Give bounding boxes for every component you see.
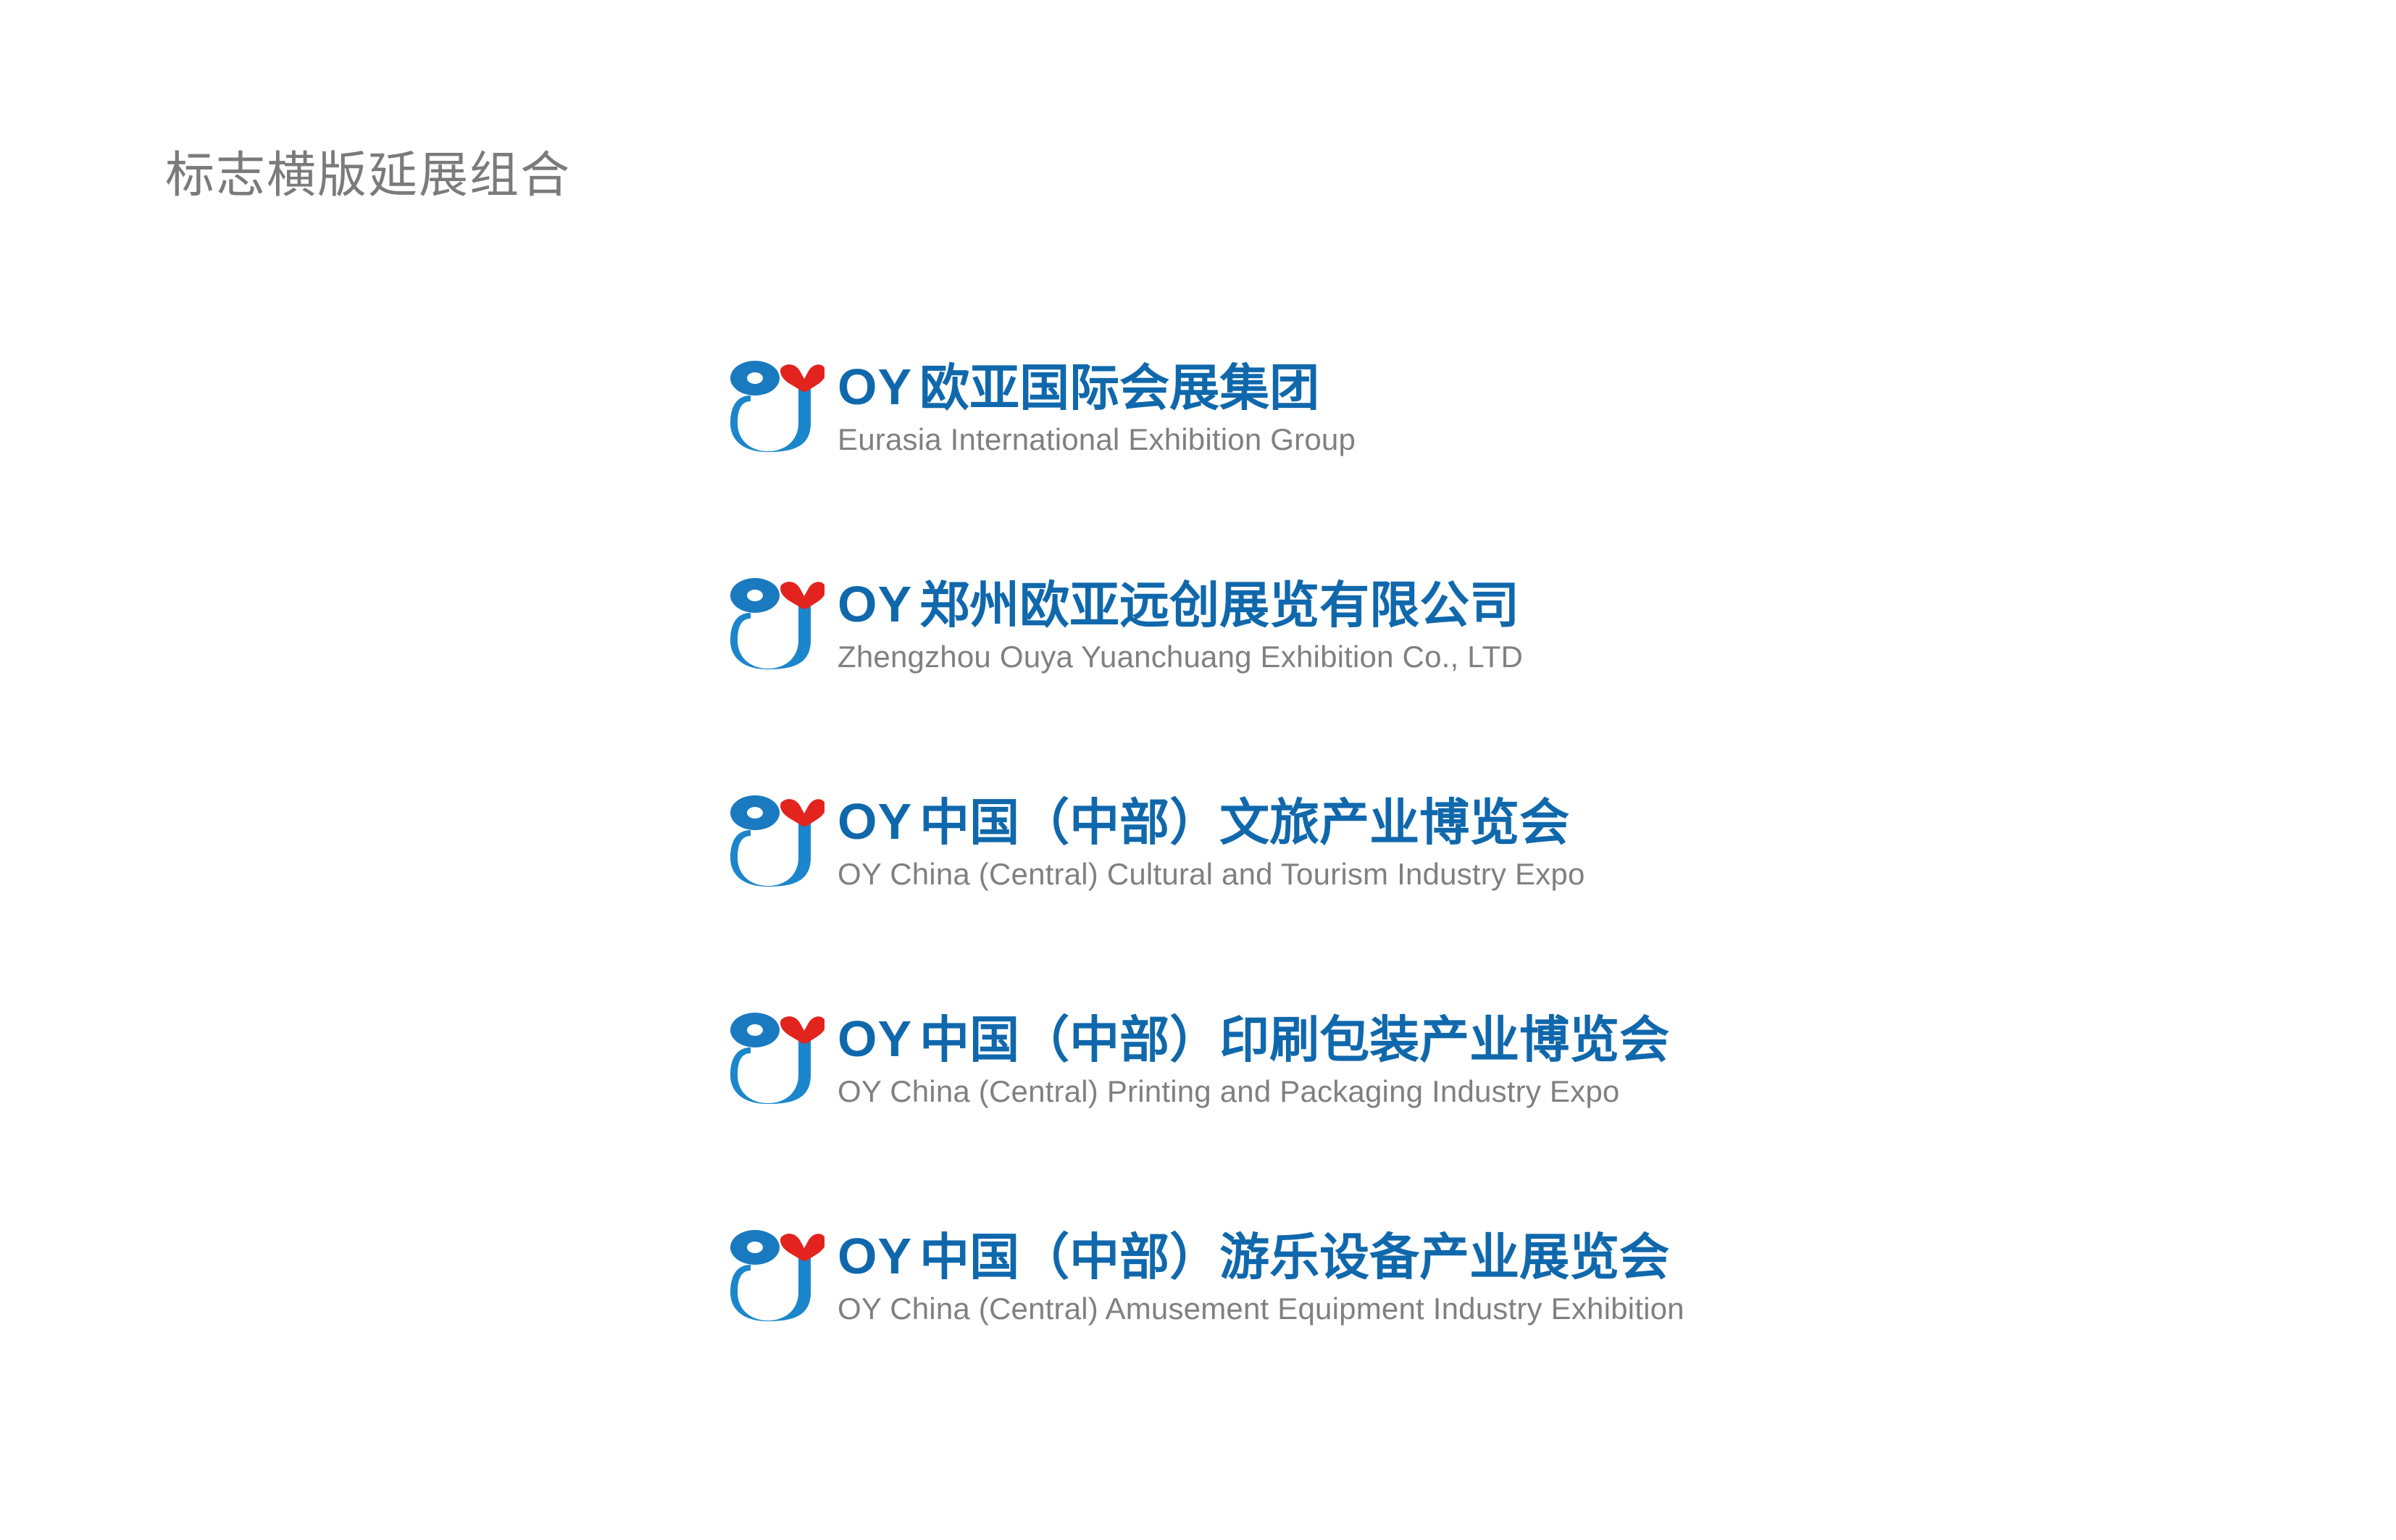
lockup-text: OY 欧亚国际会展集团 Eurasia International Exhibi… xyxy=(838,358,1356,455)
oy-wordmark: OY xyxy=(838,579,912,629)
logo-lockup-zhengzhou-ouya-yuanchuang: OY 郑州欧亚远创展览有限公司 Zhengzhou Ouya Yuanchuan… xyxy=(730,575,1685,792)
lockup-primary-line: OY 中国（中部）印刷包装产业博览会 xyxy=(838,1014,1669,1065)
lockup-primary-line: OY 欧亚国际会展集团 xyxy=(838,362,1356,413)
logo-lockup-amusement-equipment-industry-exhibition: OY 中国（中部）游乐设备产业展览会 OY China (Central) Am… xyxy=(730,1227,1685,1324)
lockup-chinese-name: 欧亚国际会展集团 xyxy=(919,363,1319,413)
lockup-english-name: OY China (Central) Amusement Equipment I… xyxy=(838,1294,1685,1324)
oy-wordmark: OY xyxy=(838,1231,912,1281)
oy-eurasia-symbol-icon xyxy=(730,794,825,887)
lockup-text: OY 郑州欧亚远创展览有限公司 Zhengzhou Ouya Yuanchuan… xyxy=(838,575,1523,672)
logo-lockup-printing-packaging-industry-expo: OY 中国（中部）印刷包装产业博览会 OY China (Central) Pr… xyxy=(730,1010,1685,1227)
oy-eurasia-symbol-icon xyxy=(730,1011,825,1104)
lockup-chinese-name: 中国（中部）印刷包装产业博览会 xyxy=(919,1015,1669,1065)
logo-lockup-list: OY 欧亚国际会展集团 Eurasia International Exhibi… xyxy=(730,358,1685,1324)
logo-lockup-eurasia-international-exhibition-group: OY 欧亚国际会展集团 Eurasia International Exhibi… xyxy=(730,358,1685,575)
oy-wordmark: OY xyxy=(838,361,912,412)
oy-wordmark: OY xyxy=(838,1013,912,1064)
lockup-english-name: OY China (Central) Printing and Packagin… xyxy=(838,1076,1669,1107)
oy-wordmark: OY xyxy=(838,796,912,847)
lockup-primary-line: OY 中国（中部）文旅产业博览会 xyxy=(838,797,1585,848)
lockup-text: OY 中国（中部）游乐设备产业展览会 OY China (Central) Am… xyxy=(838,1227,1685,1324)
page-title: 标志横版延展组合 xyxy=(165,151,571,200)
oy-eurasia-symbol-icon xyxy=(730,1229,825,1321)
lockup-chinese-name: 郑州欧亚远创展览有限公司 xyxy=(919,580,1519,630)
lockup-english-name: Eurasia International Exhibition Group xyxy=(838,424,1356,455)
logo-lockup-cultural-tourism-industry-expo: OY 中国（中部）文旅产业博览会 OY China (Central) Cult… xyxy=(730,792,1685,1010)
lockup-english-name: Zhengzhou Ouya Yuanchuang Exhibition Co.… xyxy=(838,642,1523,672)
lockup-text: OY 中国（中部）文旅产业博览会 OY China (Central) Cult… xyxy=(838,792,1585,890)
oy-eurasia-symbol-icon xyxy=(730,359,825,452)
oy-eurasia-symbol-icon xyxy=(730,577,825,669)
lockup-chinese-name: 中国（中部）游乐设备产业展览会 xyxy=(919,1232,1669,1282)
lockup-chinese-name: 中国（中部）文旅产业博览会 xyxy=(919,798,1569,848)
lockup-primary-line: OY 郑州欧亚远创展览有限公司 xyxy=(838,579,1523,630)
lockup-primary-line: OY 中国（中部）游乐设备产业展览会 xyxy=(838,1231,1685,1282)
lockup-english-name: OY China (Central) Cultural and Tourism … xyxy=(838,859,1585,890)
lockup-text: OY 中国（中部）印刷包装产业博览会 OY China (Central) Pr… xyxy=(838,1010,1669,1107)
